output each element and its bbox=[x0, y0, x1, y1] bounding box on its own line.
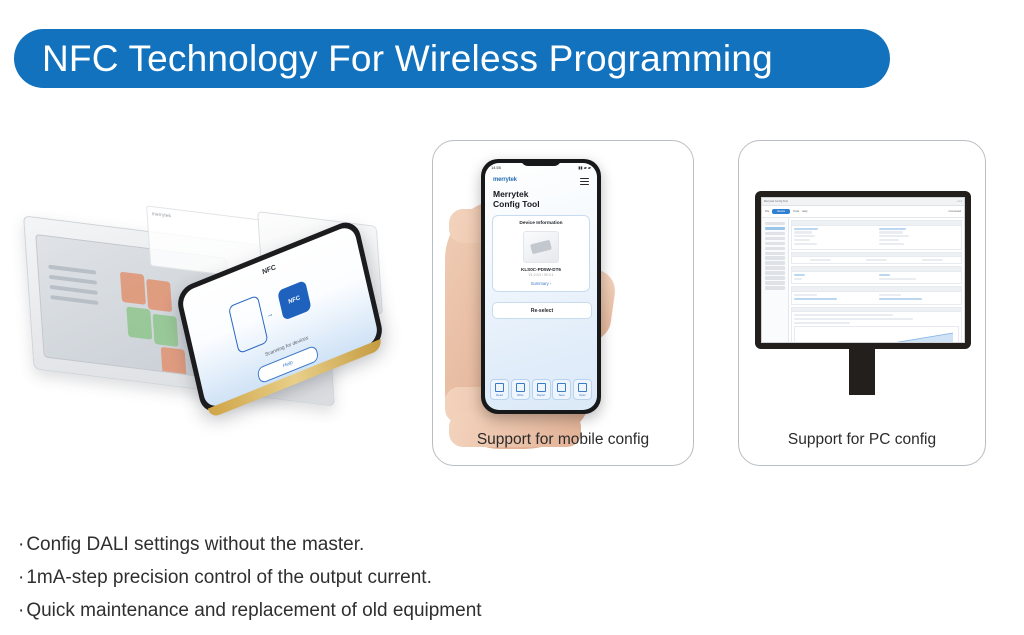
bullet-text: Config DALI settings without the master. bbox=[26, 534, 364, 555]
pc-main-content bbox=[789, 218, 964, 343]
device-version-text: V1.2.0.0 / 00 0 1 bbox=[497, 273, 585, 277]
re-select-button[interactable]: Re-select bbox=[492, 302, 592, 319]
save-button[interactable]: Save bbox=[552, 379, 571, 400]
phone-screen: 14:55 ▮▮ ▰ ▰ merrytek Merrytek Config To… bbox=[485, 163, 597, 410]
driver-pin bbox=[50, 295, 98, 305]
phone-bottom-toolbar: Read Write Report Save Open bbox=[490, 379, 592, 400]
phone-notch bbox=[521, 159, 561, 166]
bullet-text: 1mA-step precision control of the output… bbox=[26, 567, 432, 588]
bullet-text: Quick maintenance and replacement of old… bbox=[26, 600, 481, 621]
feature-card-mobile: 14:55 ▮▮ ▰ ▰ merrytek Merrytek Config To… bbox=[432, 140, 694, 466]
toolbar-item-help[interactable]: Help bbox=[802, 210, 807, 213]
read-label: Read bbox=[496, 393, 503, 397]
pc-app-body bbox=[762, 218, 964, 343]
app-title: Merrytek Config Tool bbox=[493, 189, 540, 209]
toolbar-tab-device[interactable]: Device bbox=[772, 209, 790, 214]
write-icon bbox=[516, 383, 525, 392]
sidebar-item[interactable] bbox=[765, 286, 785, 289]
driver-pin bbox=[49, 275, 97, 285]
pc-sidebar bbox=[762, 218, 789, 343]
current-curve-chart bbox=[794, 326, 959, 343]
panel-header bbox=[792, 308, 961, 313]
sidebar-item[interactable] bbox=[765, 232, 785, 235]
panel-header bbox=[792, 221, 961, 226]
device-information-card: Device Information KLS0C-PD5W-DT6 V1.2.0… bbox=[492, 215, 590, 292]
pc-panel-dimming bbox=[791, 266, 962, 284]
terminal-block bbox=[152, 314, 178, 347]
monitor-stand bbox=[849, 349, 875, 395]
header-banner: NFC Technology For Wireless Programming bbox=[14, 29, 890, 88]
card-caption-pc: Support for PC config bbox=[739, 431, 985, 449]
read-button[interactable]: Read bbox=[490, 379, 509, 400]
sidebar-item[interactable] bbox=[765, 271, 785, 274]
open-icon bbox=[578, 383, 587, 392]
panel-header bbox=[792, 267, 961, 272]
sidebar-item[interactable] bbox=[765, 222, 785, 225]
sidebar-item[interactable] bbox=[765, 276, 785, 279]
terminal-block bbox=[161, 347, 187, 380]
sidebar-item[interactable] bbox=[765, 281, 785, 284]
report-label: Report bbox=[537, 393, 545, 397]
open-label: Open bbox=[579, 393, 586, 397]
chart-area-svg bbox=[795, 327, 955, 343]
sidebar-item[interactable] bbox=[765, 266, 785, 269]
read-icon bbox=[495, 383, 504, 392]
bullet-marker: · bbox=[18, 600, 24, 621]
device-model-text: KLS0C-PD5W-DT6 bbox=[497, 267, 585, 272]
card-caption-mobile: Support for mobile config bbox=[433, 431, 693, 449]
phone-device: 14:55 ▮▮ ▰ ▰ merrytek Merrytek Config To… bbox=[481, 159, 601, 414]
panel-header bbox=[792, 287, 961, 292]
write-button[interactable]: Write bbox=[511, 379, 530, 400]
save-icon bbox=[557, 383, 566, 392]
pc-panel-basic bbox=[791, 220, 962, 250]
monitor-screen: Merrytek Config Tool – □ × File Device T… bbox=[761, 197, 965, 343]
bullet-item: ·1mA-step precision control of the outpu… bbox=[18, 561, 718, 594]
summary-link[interactable]: Summary › bbox=[497, 281, 585, 286]
pc-panel-current-curve bbox=[791, 307, 962, 343]
device-information-title: Device Information bbox=[497, 221, 585, 226]
report-icon bbox=[537, 383, 546, 392]
page-title: NFC Technology For Wireless Programming bbox=[42, 38, 773, 80]
status-time: 14:55 bbox=[491, 165, 501, 170]
status-indicators: ▮▮ ▰ ▰ bbox=[578, 165, 591, 170]
sidebar-item[interactable] bbox=[765, 247, 785, 250]
terminal-block bbox=[126, 306, 152, 339]
feature-card-pc: Merrytek Config Tool – □ × File Device T… bbox=[738, 140, 986, 466]
hamburger-menu-icon[interactable] bbox=[580, 178, 589, 187]
phone-outline-icon bbox=[228, 295, 269, 354]
bullet-item: ·Config DALI settings without the master… bbox=[18, 528, 718, 561]
driver-pin bbox=[50, 285, 98, 295]
open-button[interactable]: Open bbox=[573, 379, 592, 400]
merrytek-logo: merrytek bbox=[493, 177, 517, 183]
pc-app-titlebar: Merrytek Config Tool – □ × bbox=[762, 198, 964, 206]
terminal-block bbox=[120, 272, 146, 305]
device-thumbnail-image bbox=[523, 231, 559, 263]
report-button[interactable]: Report bbox=[532, 379, 551, 400]
sidebar-item-active[interactable] bbox=[765, 227, 785, 230]
feature-bullet-list: ·Config DALI settings without the master… bbox=[18, 528, 718, 627]
write-label: Write bbox=[517, 393, 523, 397]
save-label: Save bbox=[559, 393, 565, 397]
panel-header bbox=[792, 253, 961, 258]
sidebar-item[interactable] bbox=[765, 256, 785, 259]
bullet-item: ·Quick maintenance and replacement of ol… bbox=[18, 594, 718, 627]
arrow-icon: → bbox=[266, 310, 274, 320]
nfc-driver-with-phone-photo: merrytek NFC → NFC Scanning for devices … bbox=[20, 205, 420, 445]
nfc-tag-icon: NFC bbox=[277, 280, 312, 321]
sidebar-item[interactable] bbox=[765, 242, 785, 245]
sidebar-item[interactable] bbox=[765, 252, 785, 255]
app-title-line1: Merrytek bbox=[493, 189, 540, 199]
toolbar-item-file[interactable]: File bbox=[765, 210, 769, 213]
pc-window-title: Merrytek Config Tool bbox=[764, 200, 788, 203]
app-title-line2: Config Tool bbox=[493, 199, 540, 209]
monitor-device: Merrytek Config Tool – □ × File Device T… bbox=[755, 191, 971, 349]
toolbar-connection-status: Connected bbox=[948, 210, 961, 213]
terminal-block bbox=[146, 279, 172, 312]
pc-panel-sensor bbox=[791, 252, 962, 265]
bullet-marker: · bbox=[18, 567, 24, 588]
bullet-marker: · bbox=[18, 534, 24, 555]
sidebar-item[interactable] bbox=[765, 237, 785, 240]
driver-pin bbox=[48, 265, 96, 275]
pc-app-toolbar: File Device Tools Help Connected bbox=[762, 206, 964, 218]
pc-window-controls[interactable]: – □ × bbox=[956, 200, 962, 203]
toolbar-item-tools[interactable]: Tools bbox=[793, 210, 799, 213]
pc-panel-dali bbox=[791, 286, 962, 304]
sidebar-item[interactable] bbox=[765, 261, 785, 264]
